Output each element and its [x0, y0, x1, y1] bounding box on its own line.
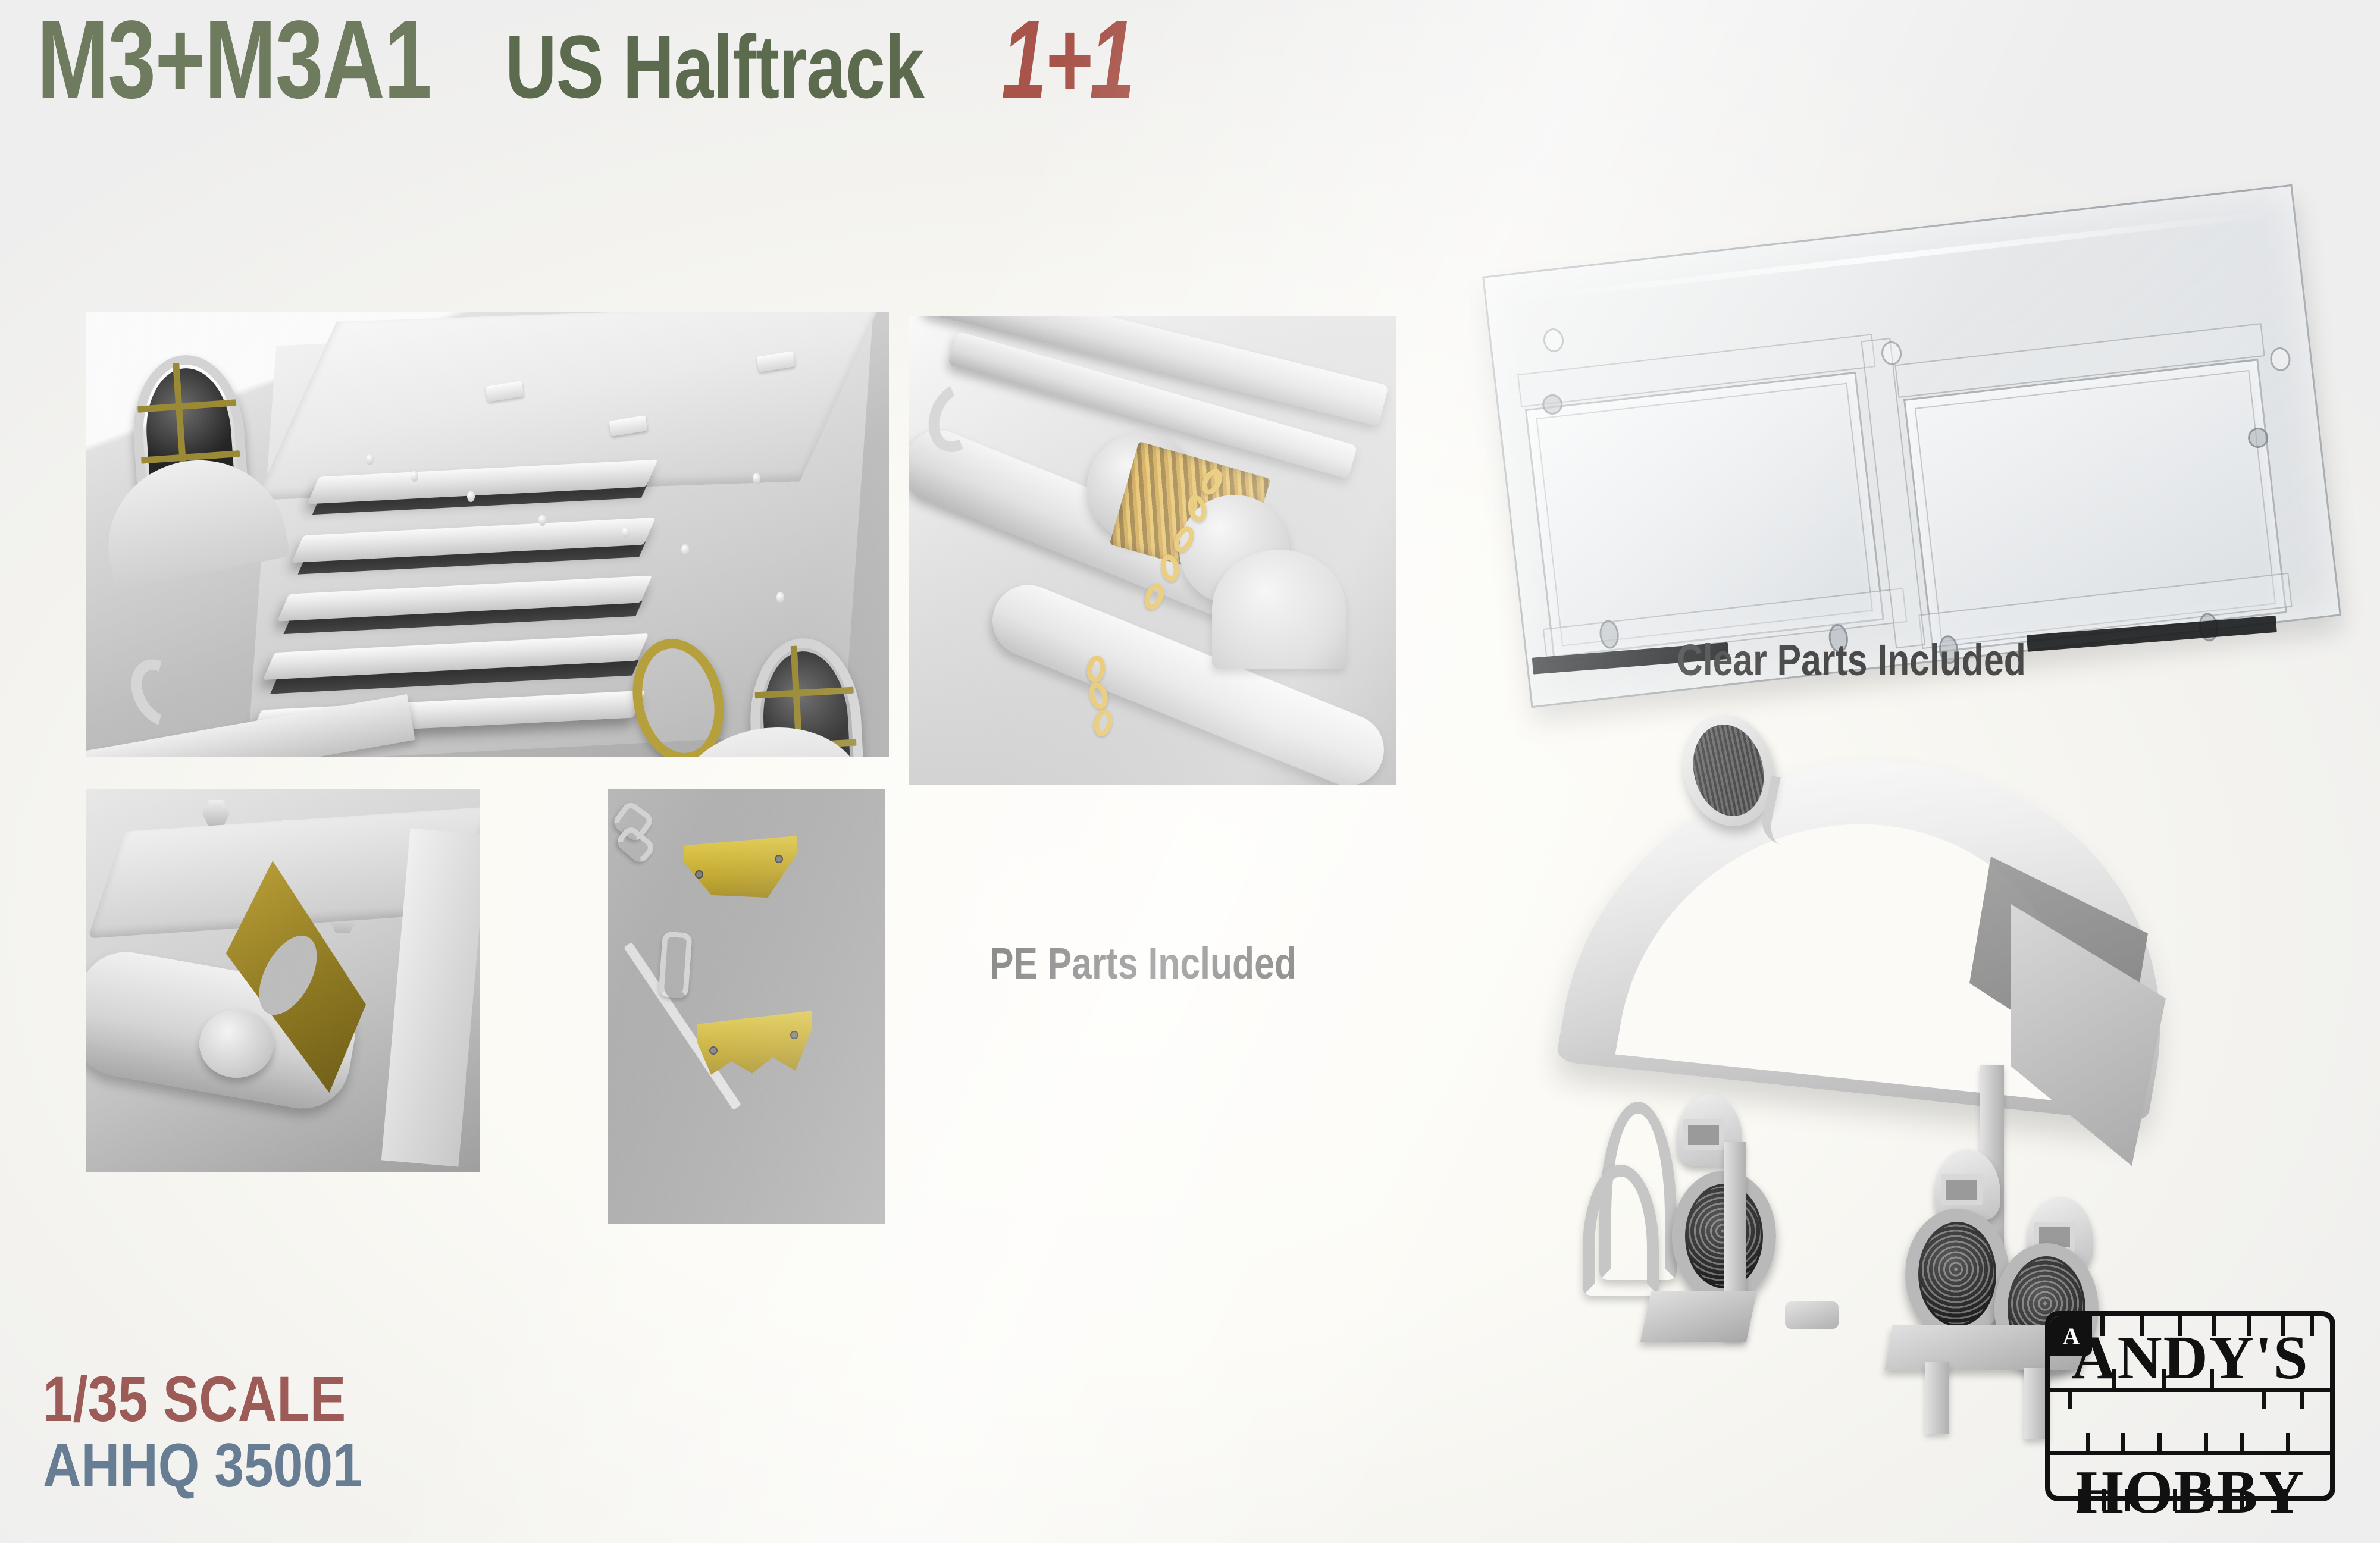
sprue-tick [2157, 1433, 2162, 1453]
fender-and-lamp-assemblies [1559, 708, 2332, 1243]
photo-engine-block-pe-bracket [86, 789, 480, 1172]
brand-logo[interactable]: A ANDY'S HOBBY HEADQUARTERS [2045, 1311, 2335, 1501]
photo-engine-hood-louvers [86, 312, 889, 757]
kit-number-label: AHHQ 35001 [43, 1431, 362, 1501]
lamp-assembly-left [1583, 1094, 1833, 1350]
caption-clear-parts: Clear Parts Included [1677, 635, 2026, 685]
pe-bracket-hole [790, 1031, 798, 1039]
chain-link [1092, 707, 1115, 738]
winch-gear-housing [1212, 550, 1346, 669]
lamp-mounting-base [1640, 1291, 1757, 1342]
clear-windshield-assembly [1482, 184, 2341, 708]
rivet [467, 491, 475, 502]
product-box-art: M3+M3A1 US Halftrack 1+1 [0, 0, 2380, 1543]
photo-pe-brackets-on-hull [608, 789, 885, 1224]
rivet [538, 515, 546, 526]
oil-cap [199, 1009, 274, 1078]
logo-line-andys: ANDY'S [2050, 1327, 2330, 1389]
rivet [681, 544, 689, 556]
lamp-assembly-right [1868, 1065, 2178, 1344]
logo-line-hobby: HOBBY [2050, 1462, 2330, 1523]
rivet [776, 592, 784, 603]
pe-bracket-hole [775, 855, 783, 863]
photo-front-winch [909, 316, 1396, 785]
rivet [753, 473, 760, 484]
rivet [366, 454, 374, 465]
title-block: M3+M3A1 US Halftrack 1+1 [37, 5, 1179, 115]
sprue-post [1925, 1362, 1949, 1434]
tow-hook [120, 649, 201, 737]
title-subject: US Halftrack [505, 22, 924, 111]
scale-label: 1/35 SCALE [43, 1362, 346, 1436]
sprue-tick [2240, 1433, 2244, 1453]
title-kit-count-badge: 1+1 [1001, 5, 1132, 115]
lamp-fitting [1785, 1301, 1839, 1329]
headlight-lens [1921, 1224, 1994, 1324]
sprue-tick [2121, 1433, 2125, 1453]
pe-bracket-hole [695, 870, 703, 879]
sprue-tick [2086, 1433, 2090, 1453]
pe-bracket-upper [684, 836, 797, 898]
title-model-designation: M3+M3A1 [37, 5, 431, 115]
pe-bracket-hole [709, 1046, 718, 1055]
pe-bracket-lower [697, 1009, 812, 1076]
sprue-post [2024, 1368, 2048, 1439]
sprue-tick [2286, 1433, 2290, 1453]
sprue-tick [2204, 1433, 2208, 1453]
rivet [622, 526, 630, 538]
headlight-ring [1905, 1209, 2009, 1340]
hull-grab-handle [658, 931, 693, 998]
caption-pe-parts: PE Parts Included [989, 938, 1297, 989]
rivet [411, 471, 418, 482]
